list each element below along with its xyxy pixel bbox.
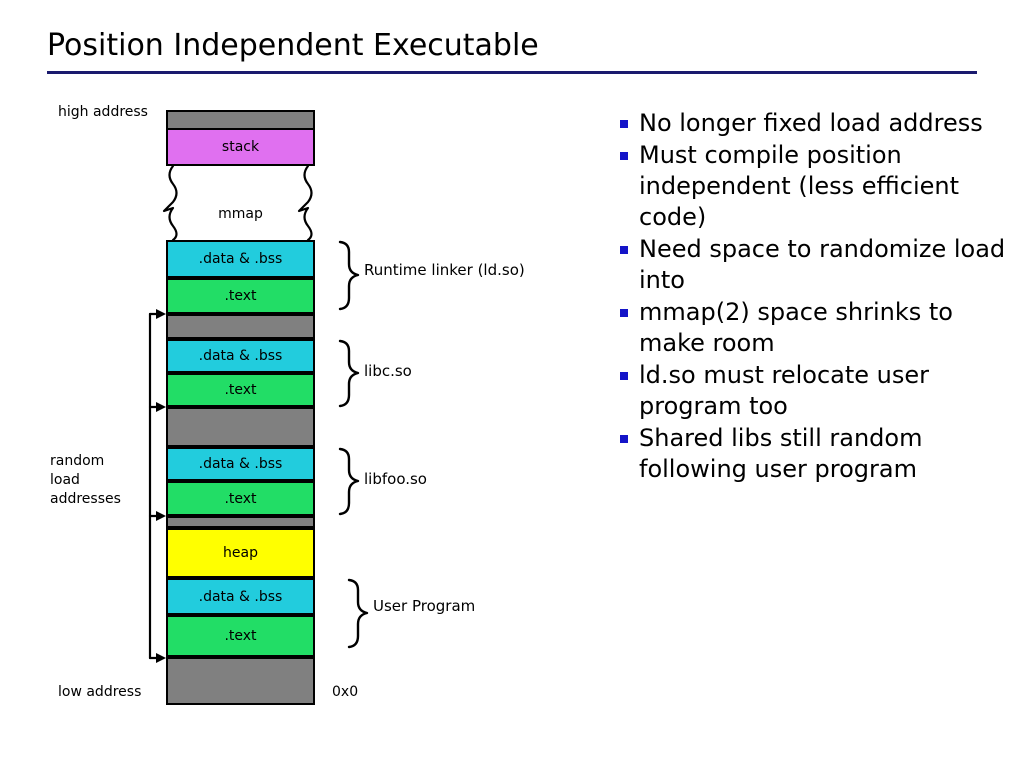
brace-userprog-icon bbox=[349, 580, 367, 647]
memory-block-label: .text bbox=[224, 382, 256, 398]
memory-layout-diagram: high address low address 0x0 random load… bbox=[0, 0, 620, 768]
brace-label-userprog: User Program bbox=[373, 597, 475, 615]
bullet-square-icon bbox=[620, 309, 628, 317]
bullet-square-icon bbox=[620, 246, 628, 254]
memory-block-gap-1 bbox=[166, 314, 315, 339]
memory-block-stack: stack bbox=[166, 128, 315, 166]
brace-label-libc: libc.so bbox=[364, 362, 412, 380]
low-address-label: low address bbox=[58, 684, 141, 700]
list-item-label: Need space to randomize load into bbox=[639, 234, 1010, 296]
memory-block-label: .data & .bss bbox=[199, 589, 283, 605]
arrowhead-3-icon bbox=[156, 511, 166, 521]
list-item: No longer fixed load address bbox=[620, 108, 1010, 139]
memory-block-label: .text bbox=[224, 491, 256, 507]
brace-ldso-icon bbox=[340, 242, 358, 309]
bullet-square-icon bbox=[620, 120, 628, 128]
random-address-arrowheads bbox=[156, 309, 166, 663]
memory-block-label: .text bbox=[224, 628, 256, 644]
arrowhead-1-icon bbox=[156, 309, 166, 319]
random-label-line-1: random bbox=[50, 452, 121, 471]
bullet-square-icon bbox=[620, 152, 628, 160]
arrowhead-4-icon bbox=[156, 653, 166, 663]
memory-block-label: heap bbox=[223, 545, 258, 561]
memory-block-reserved-bottom bbox=[166, 657, 315, 705]
memory-block-libc-text: .text bbox=[166, 373, 315, 407]
memory-block-heap: heap bbox=[166, 528, 315, 578]
memory-block-libfoo-text: .text bbox=[166, 481, 315, 516]
memory-block-libfoo-data: .data & .bss bbox=[166, 447, 315, 481]
memory-block-gap-2 bbox=[166, 407, 315, 447]
memory-block-label: .data & .bss bbox=[199, 251, 283, 267]
memory-block-userprog-data: .data & .bss bbox=[166, 578, 315, 615]
memory-block-label: stack bbox=[222, 139, 259, 155]
memory-block-gap-3 bbox=[166, 516, 315, 528]
list-item: Must compile position independent (less … bbox=[620, 140, 1010, 233]
list-item-label: Shared libs still random following user … bbox=[639, 423, 1010, 485]
list-item-label: mmap(2) space shrinks to make room bbox=[639, 297, 1010, 359]
bullet-list: No longer fixed load address Must compil… bbox=[620, 108, 1010, 486]
random-load-addresses-label: random load addresses bbox=[50, 452, 121, 509]
list-item: ld.so must relocate user program too bbox=[620, 360, 1010, 422]
memory-block-ldso-text: .text bbox=[166, 278, 315, 314]
list-item: mmap(2) space shrinks to make room bbox=[620, 297, 1010, 359]
list-item: Shared libs still random following user … bbox=[620, 423, 1010, 485]
list-item-label: No longer fixed load address bbox=[639, 108, 1010, 139]
list-item-label: Must compile position independent (less … bbox=[639, 140, 1010, 233]
brace-label-libfoo: libfoo.so bbox=[364, 470, 427, 488]
random-label-line-3: addresses bbox=[50, 490, 121, 509]
high-address-label: high address bbox=[58, 104, 148, 120]
memory-block-kernel-top bbox=[166, 110, 315, 130]
list-item-label: ld.so must relocate user program too bbox=[639, 360, 1010, 422]
brace-libfoo-icon bbox=[340, 449, 358, 514]
brace-libc-icon bbox=[340, 341, 358, 406]
memory-block-mmap: mmap bbox=[166, 166, 315, 240]
bullet-square-icon bbox=[620, 372, 628, 380]
list-item: Need space to randomize load into bbox=[620, 234, 1010, 296]
memory-block-libc-data: .data & .bss bbox=[166, 339, 315, 373]
memory-block-userprog-text: .text bbox=[166, 615, 315, 657]
arrowhead-2-icon bbox=[156, 402, 166, 412]
bullet-square-icon bbox=[620, 435, 628, 443]
memory-block-ldso-data: .data & .bss bbox=[166, 240, 315, 278]
brace-label-ldso: Runtime linker (ld.so) bbox=[364, 261, 525, 279]
memory-block-label: .data & .bss bbox=[199, 348, 283, 364]
zero-address-label: 0x0 bbox=[332, 684, 358, 700]
memory-block-label: mmap bbox=[218, 206, 263, 222]
memory-block-label: .data & .bss bbox=[199, 456, 283, 472]
random-label-line-2: load bbox=[50, 471, 121, 490]
memory-block-label: .text bbox=[224, 288, 256, 304]
